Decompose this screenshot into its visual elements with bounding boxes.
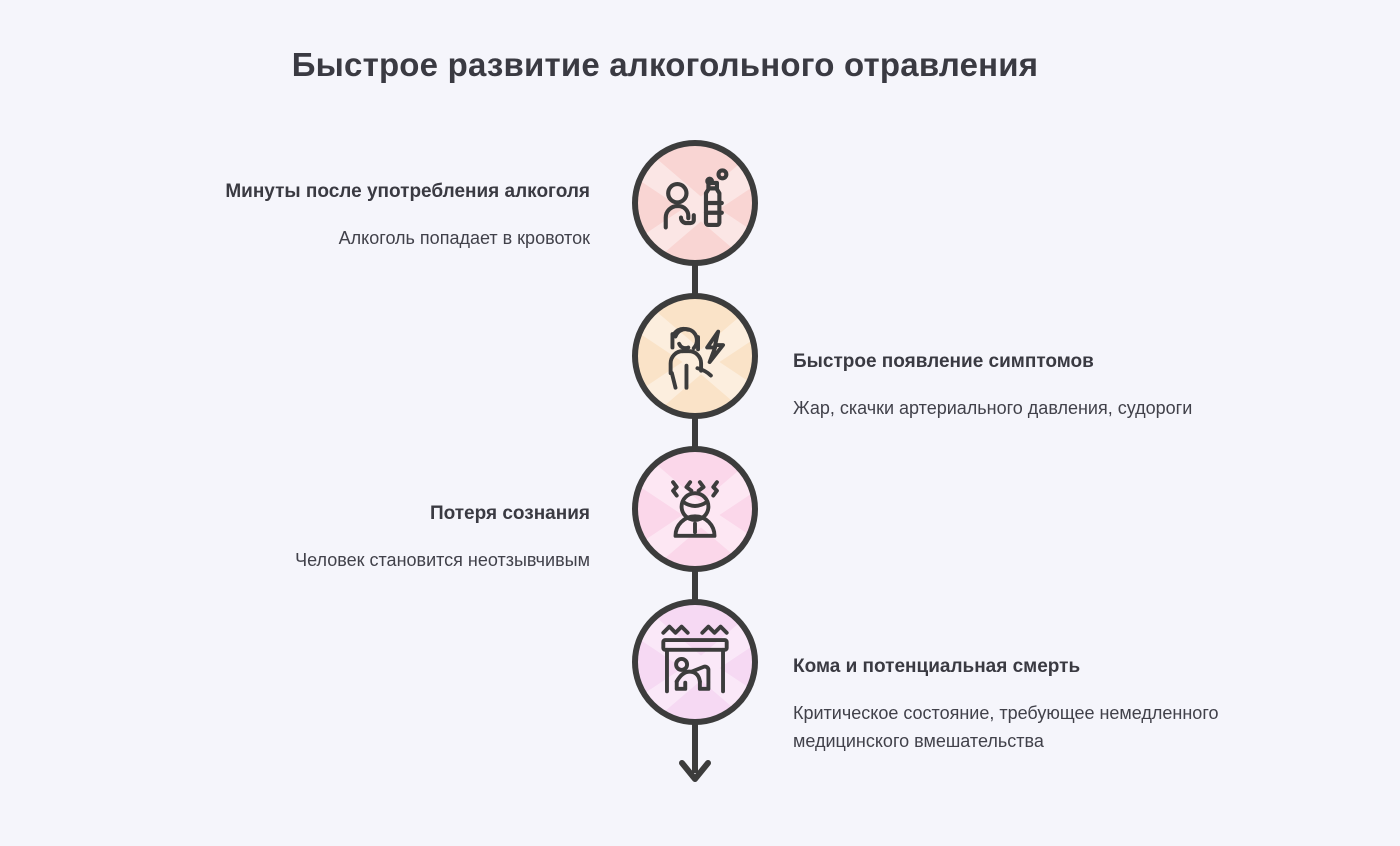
step-1-description: Алкоголь попадает в кровоток <box>170 224 590 252</box>
step-1-icon-circle <box>632 140 758 266</box>
step-4-title: Кома и потенциальная смерть <box>793 653 1233 681</box>
timeline-node-1 <box>632 140 758 266</box>
step-2-text-block: Быстрое появление симптомов Жар, скачки … <box>793 348 1233 422</box>
step-4-icon-circle <box>632 599 758 725</box>
timeline-connector-3-4 <box>632 572 758 599</box>
timeline-node-3 <box>632 446 758 572</box>
step-2-title: Быстрое появление симптомов <box>793 348 1233 376</box>
step-4-description: Критическое состояние, требующее немедле… <box>793 699 1233 755</box>
dizzy-person-icon <box>656 470 734 548</box>
step-3-title: Потеря сознания <box>170 500 590 528</box>
person-with-bottle-icon <box>656 164 734 242</box>
timeline-node-4 <box>632 599 758 725</box>
timeline-column <box>632 140 758 797</box>
step-4-text-block: Кома и потенциальная смерть Критическое … <box>793 653 1233 755</box>
step-3-icon-circle <box>632 446 758 572</box>
step-1-title: Минуты после употребления алкоголя <box>170 178 590 206</box>
hospital-bed-patient-icon <box>656 623 734 701</box>
timeline-node-2 <box>632 293 758 419</box>
down-arrow-icon <box>678 721 712 791</box>
step-3-text-block: Потеря сознания Человек становится неотз… <box>170 500 590 574</box>
infographic-canvas: Быстрое развитие алкогольного отравления… <box>0 0 1400 846</box>
person-with-lightning-icon <box>656 317 734 395</box>
timeline-end-arrow <box>632 725 758 797</box>
page-title: Быстрое развитие алкогольного отравления <box>0 46 1330 84</box>
step-3-description: Человек становится неотзывчивым <box>170 546 590 574</box>
step-2-description: Жар, скачки артериального давления, судо… <box>793 394 1233 422</box>
timeline-connector-2-3 <box>632 419 758 446</box>
step-2-icon-circle <box>632 293 758 419</box>
step-1-text-block: Минуты после употребления алкоголя Алког… <box>170 178 590 252</box>
timeline-connector-1-2 <box>632 266 758 293</box>
